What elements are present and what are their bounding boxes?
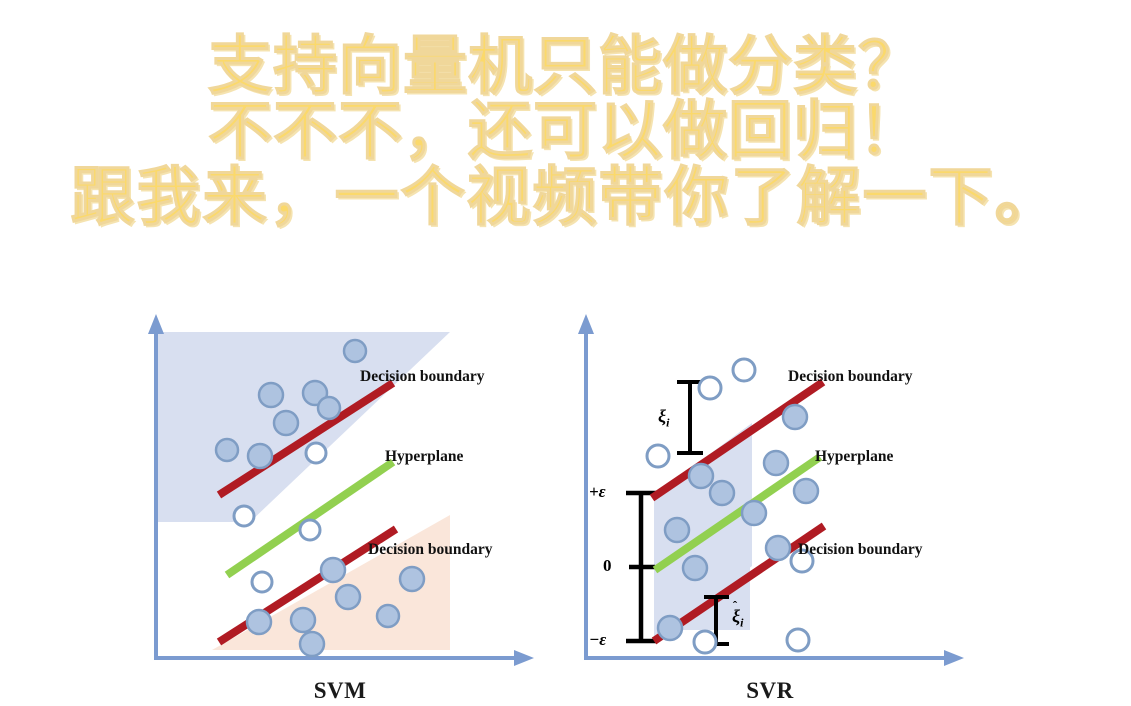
x-axis-arrowhead — [514, 650, 534, 666]
label-upper-decision-boundary: Decision boundary — [788, 368, 912, 386]
title-line-1: 支持向量机只能做分类？ — [0, 34, 1131, 99]
data-point — [766, 536, 790, 560]
data-point — [710, 481, 734, 505]
data-point — [247, 610, 271, 634]
x-axis-arrowhead — [944, 650, 964, 666]
region-positive-class — [157, 332, 450, 522]
data-point — [764, 451, 788, 475]
data-point — [306, 443, 326, 463]
xi-glyph: ξ — [658, 406, 666, 426]
y-axis-arrowhead — [578, 314, 594, 334]
data-point — [783, 405, 807, 429]
data-point — [216, 439, 238, 461]
data-point — [318, 397, 340, 419]
label-hyperplane: Hyperplane — [385, 448, 463, 466]
data-point — [699, 377, 721, 399]
data-point — [683, 556, 707, 580]
slide-canvas: 支持向量机只能做分类？ 不不不，还可以做回归！ 跟我来，一个视频带你了解一下。 — [0, 0, 1131, 706]
tick-label-minus-epsilon: −ε — [589, 630, 606, 650]
data-point — [291, 608, 315, 632]
data-point — [336, 585, 360, 609]
svm-plot-svg — [140, 310, 560, 706]
caption-svm: SVM — [130, 678, 550, 704]
xi-hat-glyph-wrapper: ̂ξ — [732, 606, 740, 627]
data-point — [694, 631, 716, 653]
y-axis-arrowhead — [148, 314, 164, 334]
label-lower-decision-boundary: Decision boundary — [798, 541, 922, 559]
data-point — [300, 632, 324, 656]
data-point — [274, 411, 298, 435]
svr-plot-svg — [570, 310, 990, 706]
label-upper-decision-boundary: Decision boundary — [360, 368, 484, 386]
hat-accent: ̂ — [732, 598, 738, 614]
data-point — [344, 340, 366, 362]
xi-subscript: i — [666, 416, 669, 430]
tick-label-plus-epsilon: +ε — [589, 482, 606, 502]
data-point — [321, 558, 345, 582]
data-point — [658, 616, 682, 640]
data-point — [742, 501, 766, 525]
diagram-svm: Decision boundary Hyperplane Decision bo… — [140, 310, 560, 706]
data-point — [259, 383, 283, 407]
data-point — [665, 518, 689, 542]
data-point — [300, 520, 320, 540]
data-point — [377, 605, 399, 627]
data-point — [252, 572, 272, 592]
xi-subscript: i — [740, 616, 743, 630]
label-slack-xi-upper: ξi — [658, 406, 669, 431]
data-point — [689, 464, 713, 488]
caption-svr: SVR — [560, 678, 980, 704]
data-point — [787, 629, 809, 651]
slide-title: 支持向量机只能做分类？ 不不不，还可以做回归！ 跟我来，一个视频带你了解一下。 — [0, 34, 1131, 230]
tick-label-zero: 0 — [603, 556, 612, 576]
label-lower-decision-boundary: Decision boundary — [368, 541, 492, 559]
data-point — [733, 359, 755, 381]
label-slack-xi-hat-lower: ̂ξi — [732, 606, 743, 631]
label-hyperplane: Hyperplane — [815, 448, 893, 466]
data-point — [647, 445, 669, 467]
data-point — [234, 506, 254, 526]
title-line-2: 不不不，还可以做回归！ — [0, 99, 1131, 164]
data-point — [400, 567, 424, 591]
title-line-3: 跟我来，一个视频带你了解一下。 — [0, 165, 1131, 230]
diagram-svr: Decision boundary Hyperplane Decision bo… — [570, 310, 990, 706]
data-point — [248, 444, 272, 468]
data-point — [794, 479, 818, 503]
